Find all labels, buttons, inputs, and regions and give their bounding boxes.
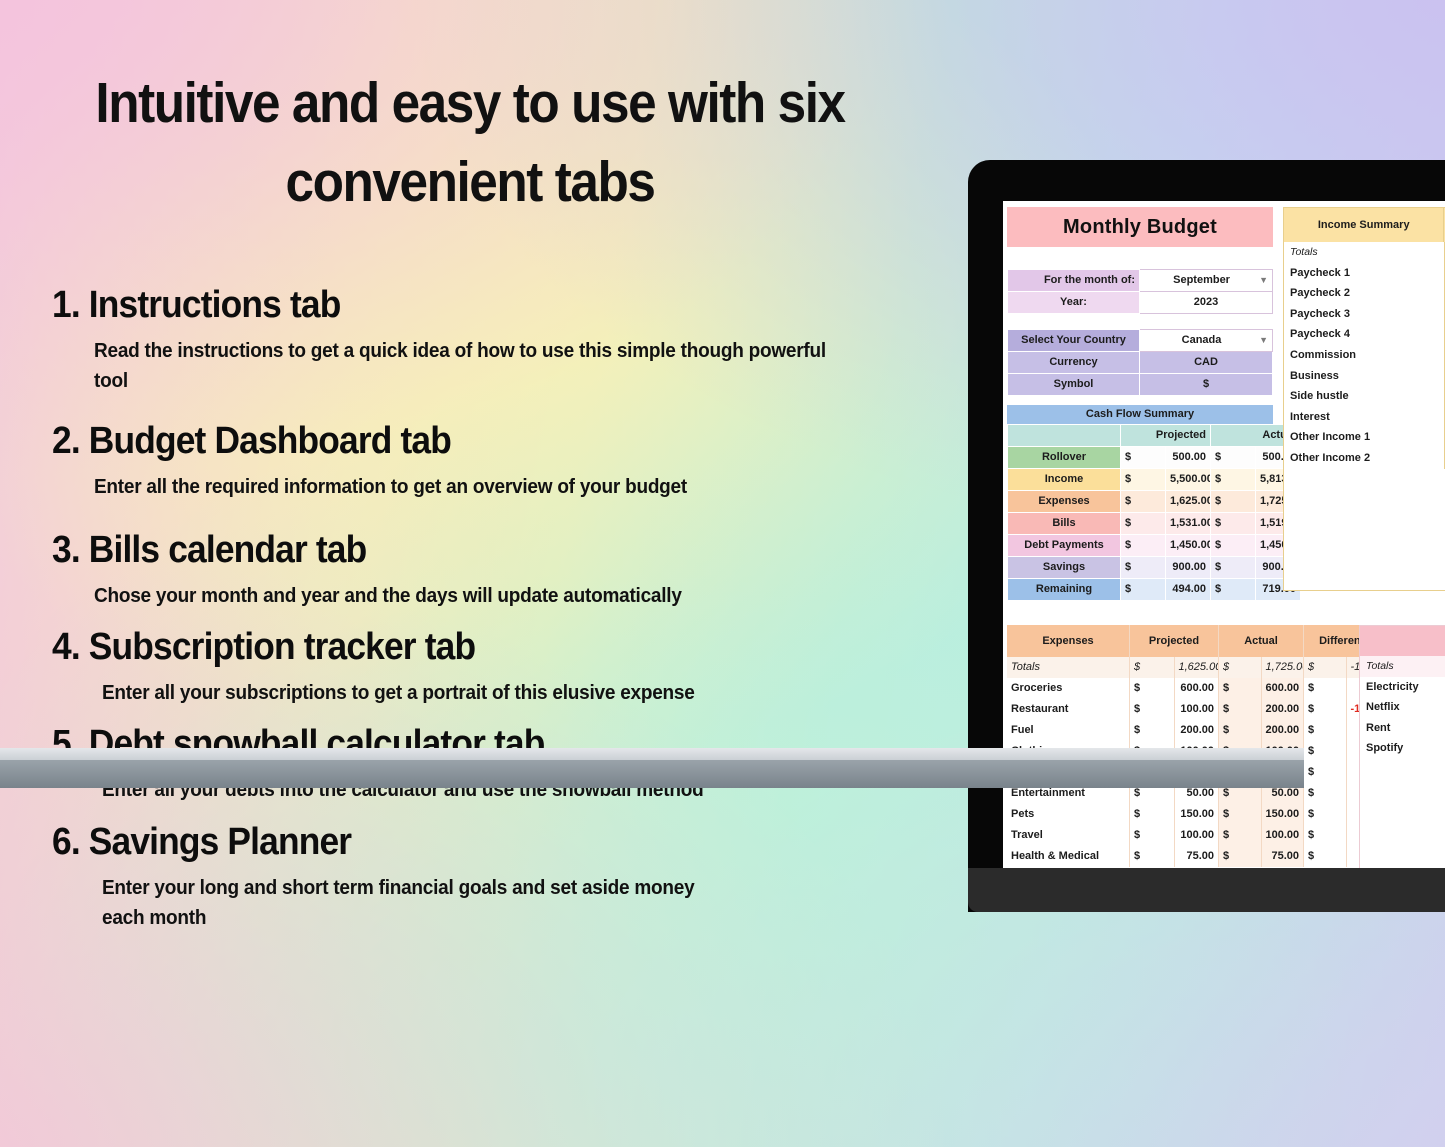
year-label: Year: (1008, 292, 1140, 314)
row-actual: 600.00 (1261, 678, 1304, 699)
income-row-label: Business (1284, 366, 1444, 387)
row-label: Rollover (1008, 447, 1121, 469)
row-projected: 1,625.00 (1166, 491, 1211, 513)
income-row-label: Paycheck 3 (1284, 304, 1444, 325)
table-row: Expenses $1,625.00 $1,725.00 (1008, 491, 1301, 513)
expenses-col-actual: Actual (1219, 625, 1304, 657)
row-label: Restaurant (1007, 699, 1130, 720)
list-item: 4. Subscription tracker tab Enter all yo… (52, 624, 932, 708)
income-row-label: Side hustle (1284, 386, 1444, 407)
bills-totals-label: Totals (1360, 656, 1445, 677)
list-item: 6. Savings Planner Enter your long and s… (52, 819, 932, 934)
table-row: Remaining $494.00 $719.00 (1008, 579, 1301, 601)
col-projected: Projected (1121, 425, 1211, 447)
table-row: For the month of: September ▼ (1008, 270, 1273, 292)
row-label: Pets (1007, 804, 1130, 825)
expenses-col-projected: Projected (1130, 625, 1219, 657)
country-block: Select Your Country Canada ▼ Currency CA… (1007, 329, 1273, 396)
country-value: Canada (1182, 334, 1222, 346)
row-projected: 75.00 (1174, 846, 1219, 867)
row-projected: 1,450.00 (1166, 535, 1211, 557)
row-label: Groceries (1007, 678, 1130, 699)
country-select[interactable]: Canada ▼ (1140, 330, 1273, 352)
table-row: Groceries $600.00 $600.00 $0.00 (1007, 678, 1389, 699)
laptop-base (0, 748, 1304, 788)
row-label: Health & Medical (1007, 846, 1130, 867)
chevron-down-icon[interactable]: ▼ (1259, 331, 1268, 350)
bills-row-label: Spotify (1360, 738, 1445, 759)
row-actual: 150.00 (1261, 804, 1304, 825)
row-actual: 100.00 (1261, 825, 1304, 846)
tab-feature-list: 1. Instructions tab Read the instruction… (52, 282, 932, 938)
row-label: Expenses (1008, 491, 1121, 513)
income-row-label: Paycheck 1 (1284, 263, 1444, 284)
row-label: Debt Payments (1008, 535, 1121, 557)
bills-row-label: Netflix (1360, 697, 1445, 718)
table-row: Pets $150.00 $150.00 $0.00 (1007, 804, 1389, 825)
row-projected: 100.00 (1174, 699, 1219, 720)
income-label-column: Totals Paycheck 1 Paycheck 2 Paycheck 3 … (1284, 242, 1445, 469)
country-label: Select Your Country (1008, 330, 1140, 352)
list-item-desc: Enter your long and short term financial… (102, 873, 720, 934)
income-row-label: Interest (1284, 407, 1444, 428)
row-projected: 900.00 (1166, 557, 1211, 579)
month-year-block: For the month of: September ▼ Year: 2023 (1007, 269, 1273, 314)
expenses-totals-projected: 1,625.00 (1174, 657, 1219, 678)
cash-flow-title: Cash Flow Summary (1007, 405, 1273, 424)
chevron-down-icon[interactable]: ▼ (1259, 271, 1268, 290)
marketing-copy: Intuitive and easy to use with six conve… (0, 0, 950, 1147)
symbol-label: Symbol (1008, 374, 1140, 396)
row-label: Travel (1007, 825, 1130, 846)
bills-row-label: Electricity (1360, 677, 1445, 698)
table-row: Bills $1,531.00 $1,519.00 (1008, 513, 1301, 535)
row-projected: 600.00 (1174, 678, 1219, 699)
table-row: Fuel $200.00 $200.00 $0.00 (1007, 720, 1389, 741)
row-projected: 500.00 (1166, 447, 1211, 469)
laptop-base-top (0, 748, 1304, 761)
list-item-desc: Enter all your subscriptions to get a po… (102, 678, 710, 708)
expenses-totals-label: Totals (1007, 657, 1130, 678)
income-row-label: Other Income 2 (1284, 448, 1444, 469)
month-select[interactable]: September ▼ (1140, 270, 1273, 292)
income-summary: Income Summary Da Totals Paycheck 1 Payc… (1283, 207, 1445, 591)
currency-value: CAD (1140, 352, 1273, 374)
income-row-label: Commission (1284, 345, 1444, 366)
row-projected: 100.00 (1174, 825, 1219, 846)
page-title: Intuitive and easy to use with six conve… (74, 64, 866, 221)
laptop-mockup: Monthly Budget For the month of: Septemb… (968, 160, 1445, 912)
list-item: 3. Bills calendar tab Chose your month a… (52, 527, 932, 611)
symbol-value: $ (1140, 374, 1273, 396)
table-row: Debt Payments $1,450.00 $1,450.00 (1008, 535, 1301, 557)
bills-row-label: Rent (1360, 718, 1445, 739)
list-item-desc: Enter all the required information to ge… (94, 472, 859, 502)
expenses-totals-actual: 1,725.00 (1261, 657, 1304, 678)
year-input[interactable]: 2023 (1140, 292, 1273, 314)
row-actual: 200.00 (1261, 720, 1304, 741)
table-row: Rollover $500.00 $500.00 (1008, 447, 1301, 469)
table-row: Currency CAD (1008, 352, 1273, 374)
table-row: Select Your Country Canada ▼ (1008, 330, 1273, 352)
income-row-label: Paycheck 4 (1284, 324, 1444, 345)
table-row: Income $5,500.00 $5,813.00 (1008, 469, 1301, 491)
list-item: 1. Instructions tab Read the instruction… (52, 282, 932, 397)
table-row: Totals $1,625.00 $1,725.00 $-100.00 (1007, 657, 1389, 678)
row-projected: 494.00 (1166, 579, 1211, 601)
bills-title: Bills (1360, 626, 1445, 656)
expenses-title: Expenses (1007, 625, 1130, 657)
table-row: Restaurant $100.00 $200.00 $-100.00 (1007, 699, 1389, 720)
row-label: Savings (1008, 557, 1121, 579)
sheet-title: Monthly Budget (1007, 207, 1273, 247)
list-item-title: 6. Savings Planner (52, 819, 870, 867)
table-row: Symbol $ (1008, 374, 1273, 396)
month-label: For the month of: (1008, 270, 1140, 292)
table-row: Year: 2023 (1008, 292, 1273, 314)
currency-label: Currency (1008, 352, 1140, 374)
row-label: Fuel (1007, 720, 1130, 741)
table-row: Projected Actual (1008, 425, 1301, 447)
list-item-title: 1. Instructions tab (52, 282, 870, 330)
list-item-title: 3. Bills calendar tab (52, 527, 870, 575)
list-item-desc: Chose your month and year and the days w… (94, 581, 859, 611)
row-label: Remaining (1008, 579, 1121, 601)
row-label: Bills (1008, 513, 1121, 535)
sheet-title-block: Monthly Budget (1007, 207, 1273, 247)
income-row-label: Paycheck 2 (1284, 283, 1444, 304)
income-row-label: Other Income 1 (1284, 427, 1444, 448)
table-row: Health & Medical $75.00 $75.00 $0.00 (1007, 846, 1389, 867)
list-item-desc: Read the instructions to get a quick ide… (94, 336, 854, 397)
table-row: Savings $900.00 $900.00 (1008, 557, 1301, 579)
row-projected: 5,500.00 (1166, 469, 1211, 491)
row-projected: 150.00 (1174, 804, 1219, 825)
row-projected: 200.00 (1174, 720, 1219, 741)
row-label: Income (1008, 469, 1121, 491)
month-value: September (1173, 274, 1230, 286)
income-totals-label: Totals (1284, 242, 1444, 263)
cash-flow-summary: Cash Flow Summary Projected Actual Rollo… (1007, 405, 1273, 601)
row-projected: 1,531.00 (1166, 513, 1211, 535)
list-item-title: 4. Subscription tracker tab (52, 624, 870, 672)
income-title: Income Summary (1284, 208, 1444, 242)
bills-table: Bills Totals Electricity Netflix Rent Sp… (1359, 625, 1445, 868)
list-item-title: 2. Budget Dashboard tab (52, 418, 870, 466)
list-item: 2. Budget Dashboard tab Enter all the re… (52, 418, 932, 502)
laptop-base-front (0, 760, 1304, 788)
row-actual: 75.00 (1261, 846, 1304, 867)
expenses-table: Expenses Projected Actual Difference Tot… (1007, 625, 1353, 867)
table-row: Travel $100.00 $100.00 $0.00 (1007, 825, 1389, 846)
row-actual: 200.00 (1261, 699, 1304, 720)
table-row: Expenses Projected Actual Difference (1007, 625, 1389, 657)
